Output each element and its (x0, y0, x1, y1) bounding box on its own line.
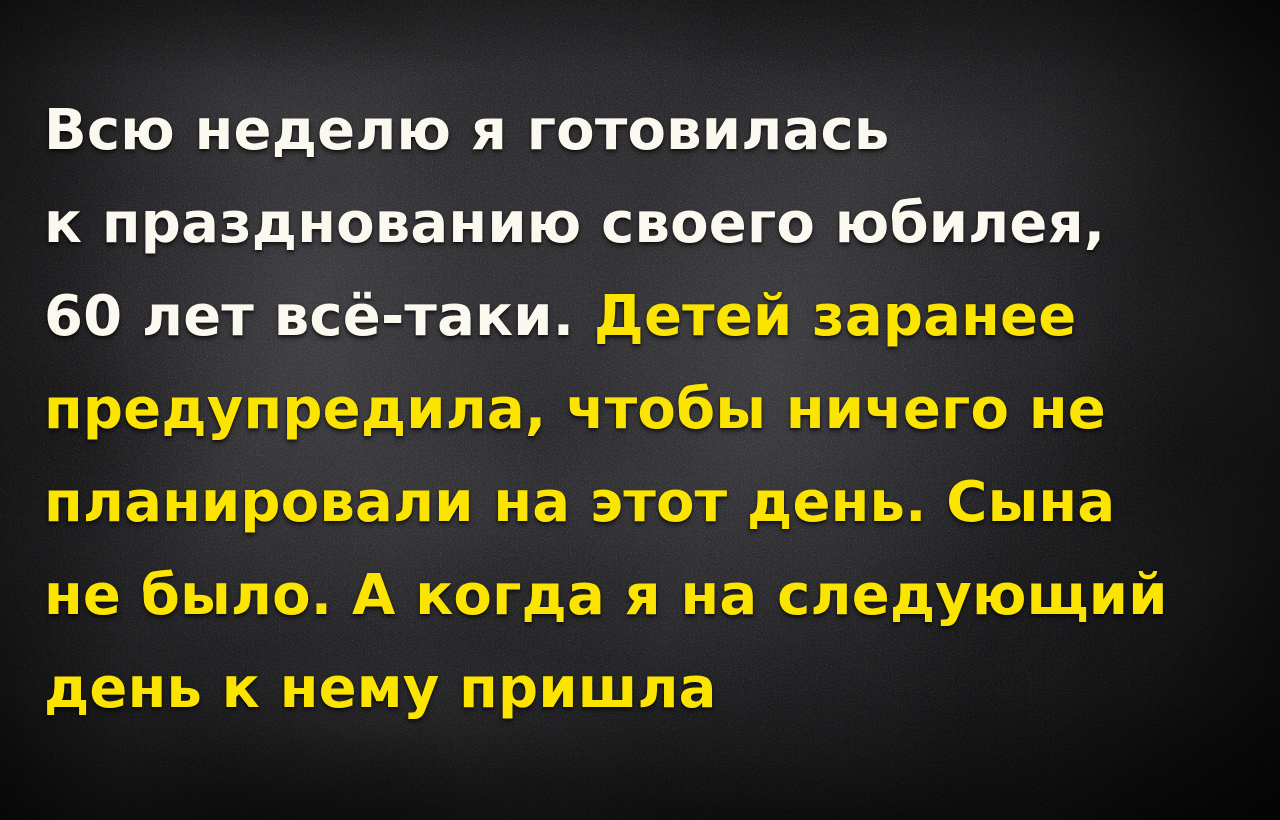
quote-segment: 60 лет всё-таки. (44, 284, 594, 349)
quote-segment-highlight: планировали на этот день. Сына (44, 470, 1115, 535)
quote-line-2: к празднованию своего юбилея, (44, 177, 1258, 270)
quote-segment-highlight: день к нему пришла (44, 656, 717, 721)
quote-line-4: предупредила, чтобы ничего не (44, 363, 1258, 456)
quote-segment-highlight: предупредила, чтобы ничего не (44, 377, 1106, 442)
quote-text-block: Всю неделю я готовилась к празднованию с… (44, 84, 1258, 735)
quote-segment: к празднованию своего юбилея, (44, 191, 1105, 256)
quote-line-6: не было. А когда я на следующий (44, 549, 1258, 642)
quote-segment-highlight: Детей заранее (594, 284, 1076, 349)
quote-segment-highlight: не было. А когда я на следующий (44, 563, 1168, 628)
quote-line-3: 60 лет всё-таки. Детей заранее (44, 270, 1258, 363)
quote-segment: Всю неделю я готовилась (44, 98, 889, 163)
quote-line-1: Всю неделю я готовилась (44, 84, 1258, 177)
quote-line-7: день к нему пришла (44, 642, 1258, 735)
chalkboard-image: Всю неделю я готовилась к празднованию с… (0, 0, 1280, 820)
quote-line-5: планировали на этот день. Сына (44, 456, 1258, 549)
